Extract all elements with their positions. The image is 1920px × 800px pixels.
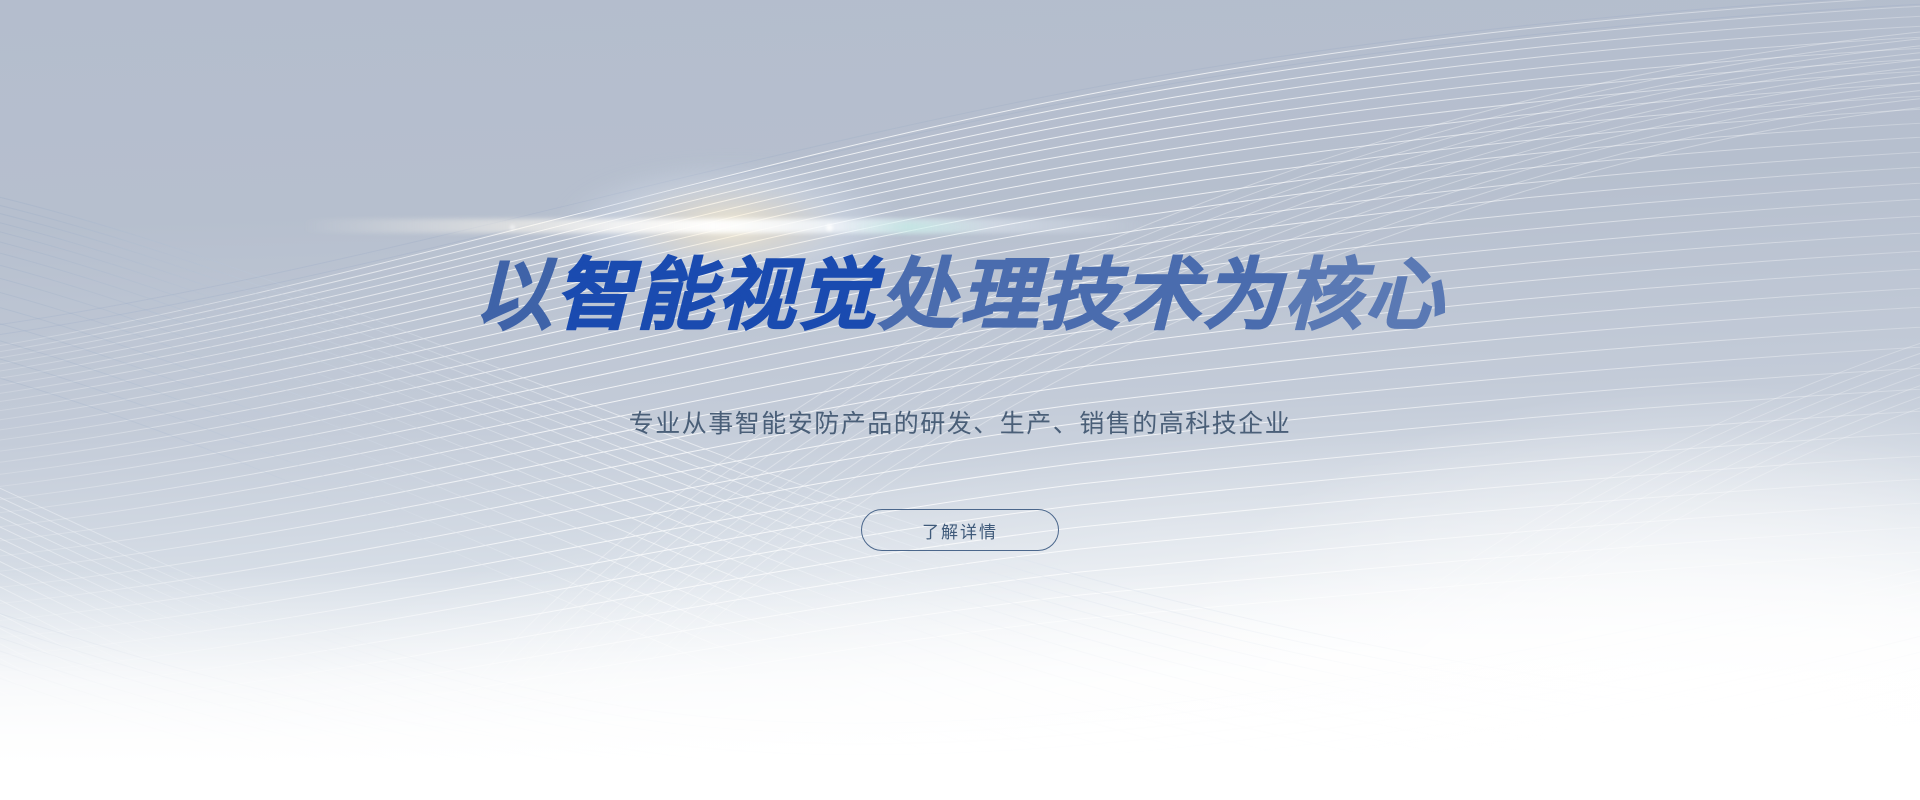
headline-segment: 智能 — [555, 256, 717, 334]
page-title: 以智能视觉处理技术为核心 — [474, 256, 1446, 334]
headline-segment: 处理技术为 — [879, 256, 1284, 334]
headline-segment: 视觉 — [717, 256, 879, 334]
learn-more-button[interactable]: 了解详情 — [861, 509, 1059, 551]
learn-more-button-label: 了解详情 — [922, 518, 998, 543]
headline-segment: 核心 — [1284, 256, 1446, 334]
headline-segment: 以 — [474, 256, 555, 334]
hero-banner: 以智能视觉处理技术为核心 专业从事智能安防产品的研发、生产、销售的高科技企业 了… — [0, 0, 1920, 800]
hero-subtitle: 专业从事智能安防产品的研发、生产、销售的高科技企业 — [629, 404, 1292, 440]
hero-content: 以智能视觉处理技术为核心 专业从事智能安防产品的研发、生产、销售的高科技企业 了… — [0, 0, 1920, 800]
